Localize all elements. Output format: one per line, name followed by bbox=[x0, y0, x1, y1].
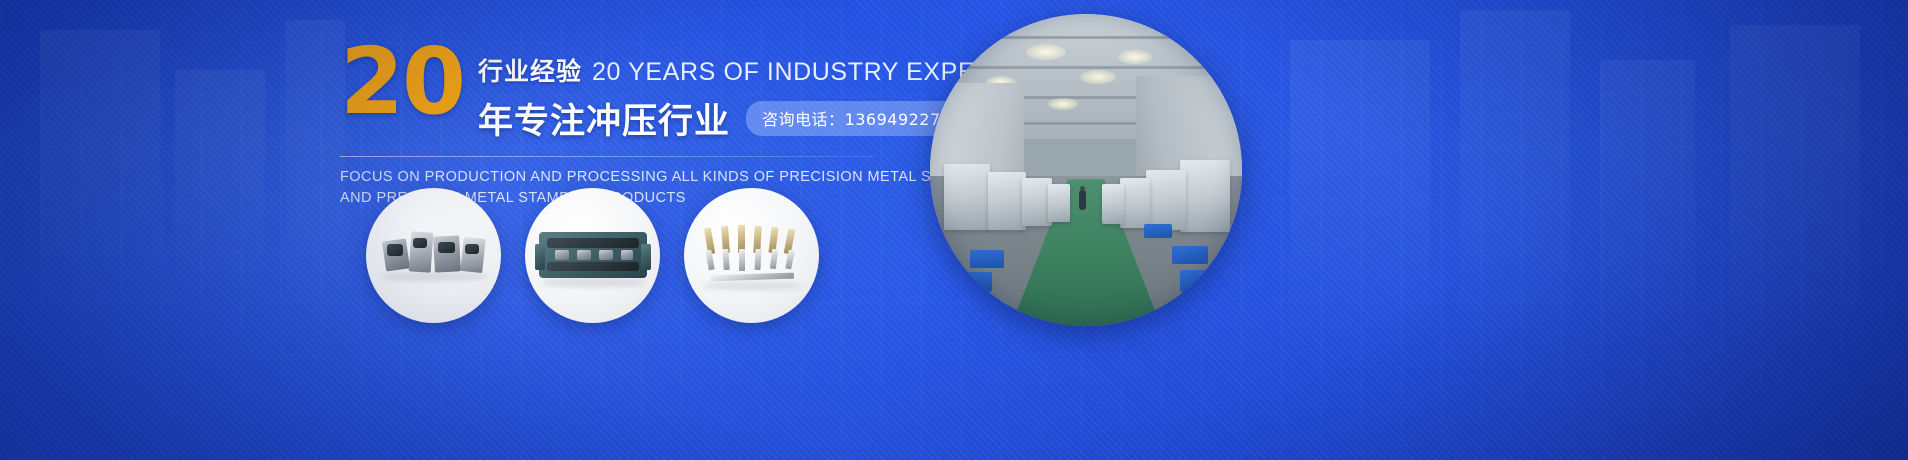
banner-copy-block: 20 行业经验 20 YEARS OF INDUSTRY EXPERIENCE … bbox=[340, 40, 900, 208]
photo-inner-shadow bbox=[930, 14, 1242, 326]
description-line-1: FOCUS ON PRODUCTION AND PROCESSING ALL K… bbox=[340, 167, 880, 188]
divider-rule bbox=[340, 156, 875, 157]
main-chinese-headline: 年专注冲压行业 bbox=[478, 93, 730, 144]
promo-banner: 20 行业经验 20 YEARS OF INDUSTRY EXPERIENCE … bbox=[0, 0, 1908, 460]
product-thumbnails bbox=[366, 188, 819, 323]
years-number: 20 bbox=[340, 44, 464, 119]
industry-experience-label: 行业经验 bbox=[478, 52, 582, 88]
product-circle-stamping-mold[interactable] bbox=[525, 188, 660, 323]
product-circle-connector-shells[interactable] bbox=[366, 188, 501, 323]
product-circle-terminal-pins[interactable] bbox=[684, 188, 819, 323]
factory-photo-circle[interactable] bbox=[930, 14, 1242, 326]
